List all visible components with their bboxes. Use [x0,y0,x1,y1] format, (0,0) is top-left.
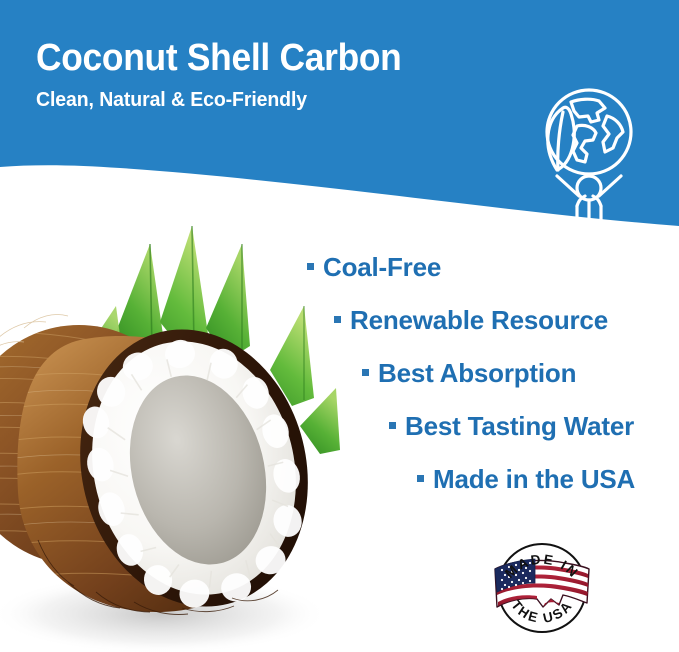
feature-item: Best Tasting Water [389,399,668,452]
bullet-square-icon [389,422,396,429]
eco-globe-leaf-person-icon [533,86,641,222]
feature-label: Made in the USA [433,464,635,494]
coconut-shell-carbon-banner: Coconut Shell Carbon Clean, Natural & Ec… [0,0,679,652]
page-title: Coconut Shell Carbon [36,36,501,80]
page-subtitle: Clean, Natural & Eco-Friendly [36,88,511,112]
header-section: Coconut Shell Carbon Clean, Natural & Ec… [0,0,679,232]
feature-label: Renewable Resource [350,305,608,335]
made-in-the-usa-badge: MADE IN THE USA [487,533,597,643]
bullet-square-icon [417,475,424,482]
feature-item: Coal-Free [307,240,668,293]
feature-item: Renewable Resource [334,293,668,346]
bullet-square-icon [334,316,341,323]
bullet-square-icon [307,263,314,270]
feature-item: Made in the USA [417,452,668,505]
feature-item: Best Absorption [362,346,668,399]
feature-label: Best Tasting Water [405,411,634,441]
feature-list: Coal-Free Renewable Resource Best Absorp… [296,240,668,505]
header-text-block: Coconut Shell Carbon Clean, Natural & Ec… [36,36,536,112]
bullet-square-icon [362,369,369,376]
feature-label: Coal-Free [323,252,441,282]
feature-label: Best Absorption [378,358,576,388]
